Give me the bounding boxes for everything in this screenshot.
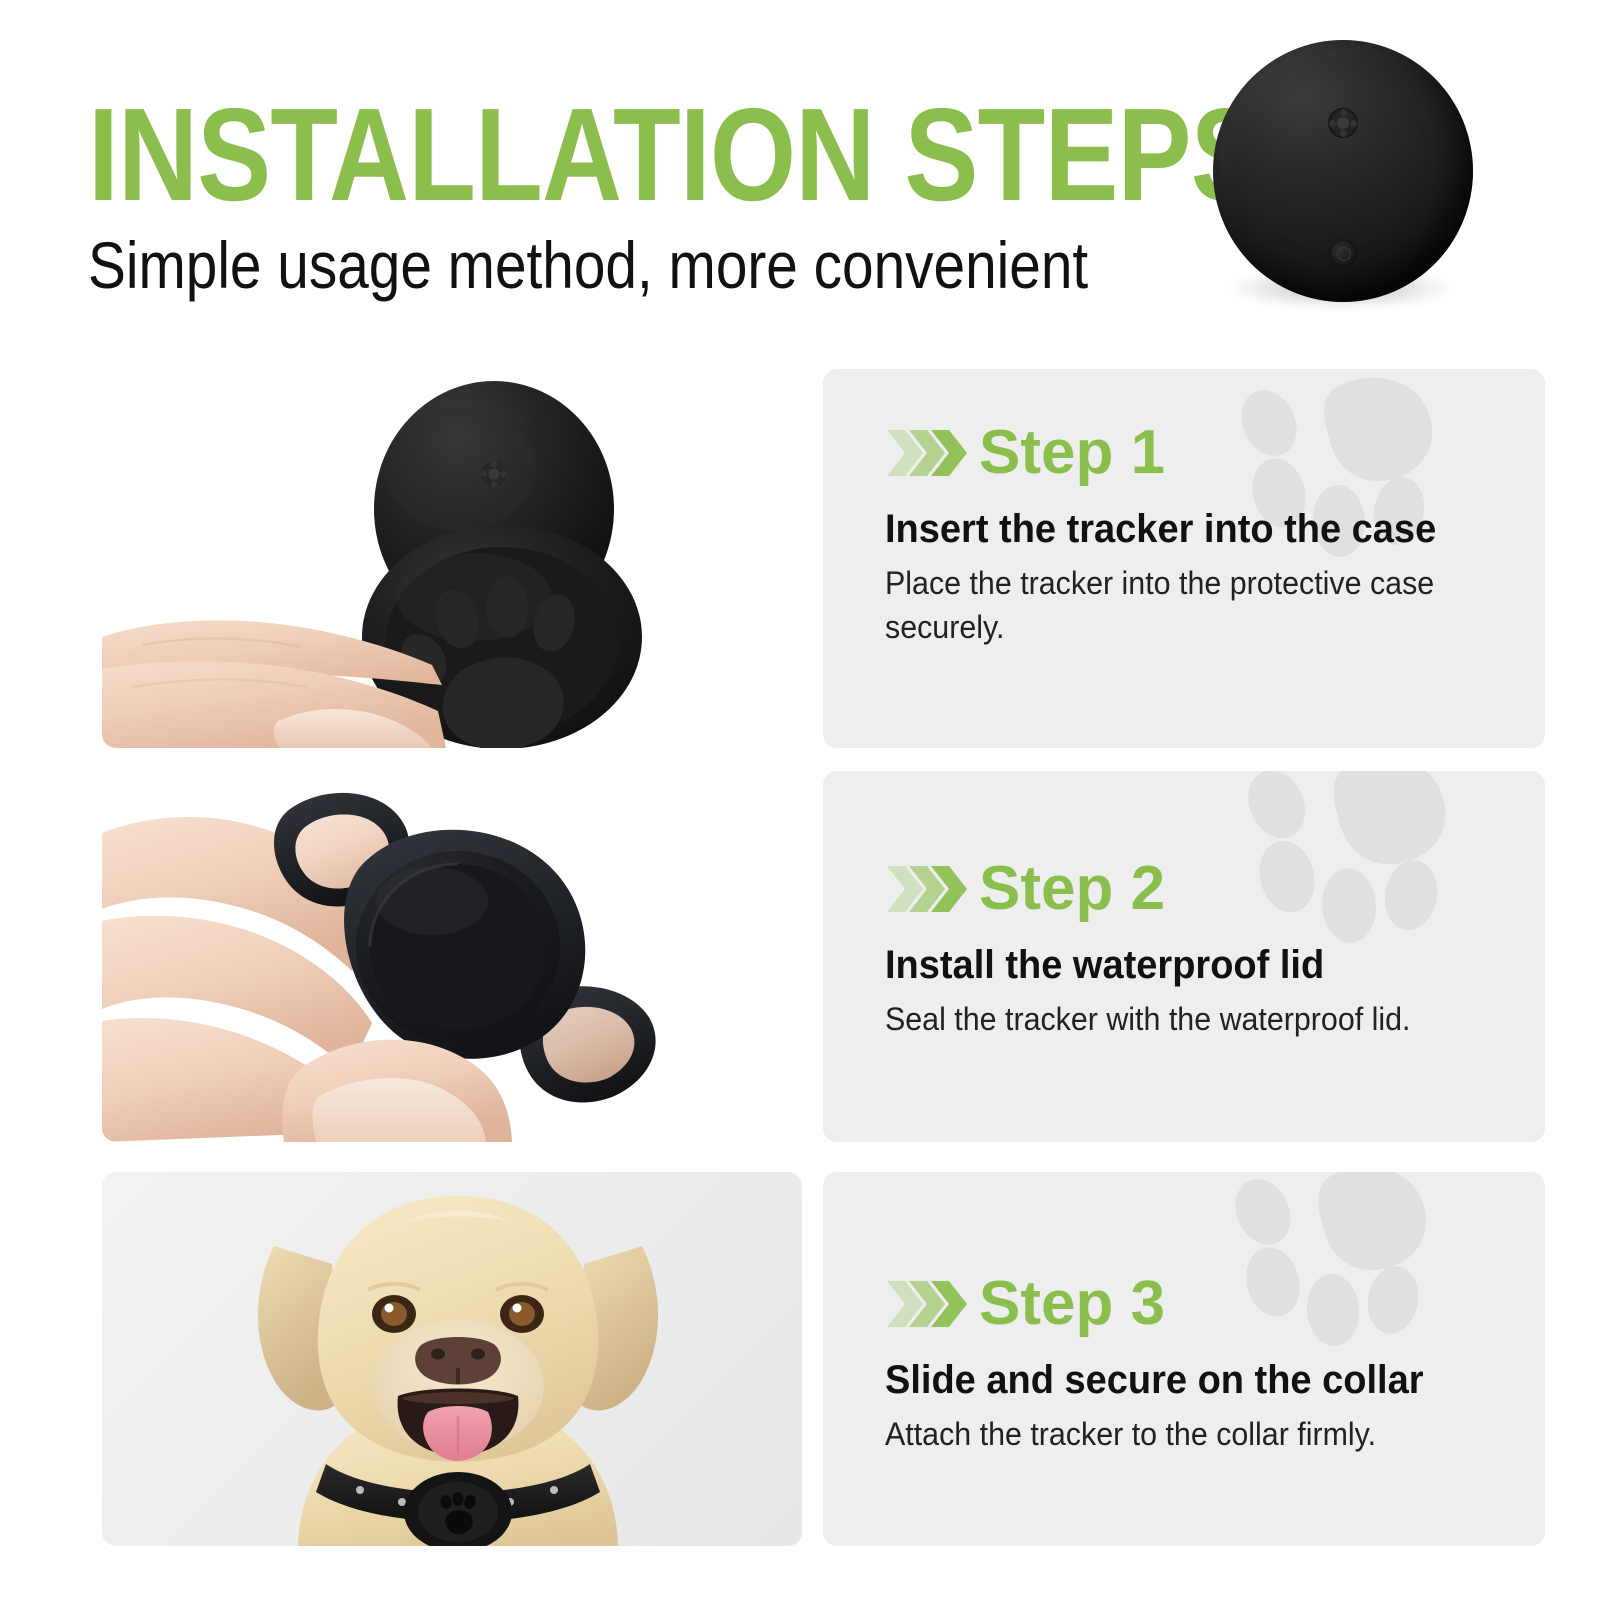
- hero-tracker-device-image: [1213, 40, 1473, 310]
- page-subtitle: Simple usage method, more convenient: [88, 228, 1034, 302]
- speaker-grille-icon: [1328, 108, 1358, 138]
- step-1-description: Place the tracker into the protective ca…: [885, 561, 1455, 649]
- step-1-text-block: Step 1 Insert the tracker into the case …: [885, 417, 1485, 649]
- step-3-title: Slide and secure on the collar: [885, 1356, 1424, 1404]
- step-card-1[interactable]: Step 1 Insert the tracker into the case …: [823, 369, 1545, 748]
- step-3-illustration: [102, 1172, 802, 1546]
- header: INSTALLATION STEPS Simple usage method, …: [0, 0, 1600, 350]
- step-3-description: Attach the tracker to the collar firmly.: [885, 1412, 1424, 1456]
- step-1-photo: [102, 369, 802, 748]
- triple-chevron-right-icon: [885, 426, 967, 480]
- device-body: [1213, 40, 1473, 302]
- step-1-title: Insert the tracker into the case: [885, 505, 1455, 553]
- step-2-label: Step 2: [979, 858, 1165, 920]
- step-card-3[interactable]: Step 3 Slide and secure on the collar At…: [823, 1172, 1545, 1546]
- step-card-2[interactable]: Step 2 Install the waterproof lid Seal t…: [823, 771, 1545, 1142]
- triple-chevron-right-icon: [885, 1277, 967, 1331]
- step-1-heading: Step 1: [885, 417, 1485, 489]
- step-2-heading: Step 2: [885, 853, 1438, 925]
- step-row-1: Step 1 Insert the tracker into the case …: [0, 369, 1600, 748]
- step-1-label: Step 1: [979, 422, 1165, 484]
- power-button-icon: [1329, 239, 1357, 267]
- title-block: INSTALLATION STEPS Simple usage method, …: [88, 96, 1188, 302]
- step-3-text-block: Step 3 Slide and secure on the collar At…: [885, 1268, 1452, 1456]
- step-2-illustration: [102, 771, 802, 1142]
- step-3-photo: [102, 1172, 802, 1546]
- step-1-illustration: [102, 369, 802, 748]
- step-2-text-block: Step 2 Install the waterproof lid Seal t…: [885, 853, 1438, 1041]
- step-3-label: Step 3: [979, 1273, 1165, 1335]
- triple-chevron-right-icon: [885, 862, 967, 916]
- step-3-heading: Step 3: [885, 1268, 1452, 1340]
- step-2-description: Seal the tracker with the waterproof lid…: [885, 997, 1410, 1041]
- step-row-3: Step 3 Slide and secure on the collar At…: [0, 1172, 1600, 1546]
- page-title: INSTALLATION STEPS: [88, 96, 1012, 214]
- step-2-title: Install the waterproof lid: [885, 941, 1410, 989]
- step-row-2: Step 2 Install the waterproof lid Seal t…: [0, 771, 1600, 1142]
- step-2-photo: [102, 771, 802, 1142]
